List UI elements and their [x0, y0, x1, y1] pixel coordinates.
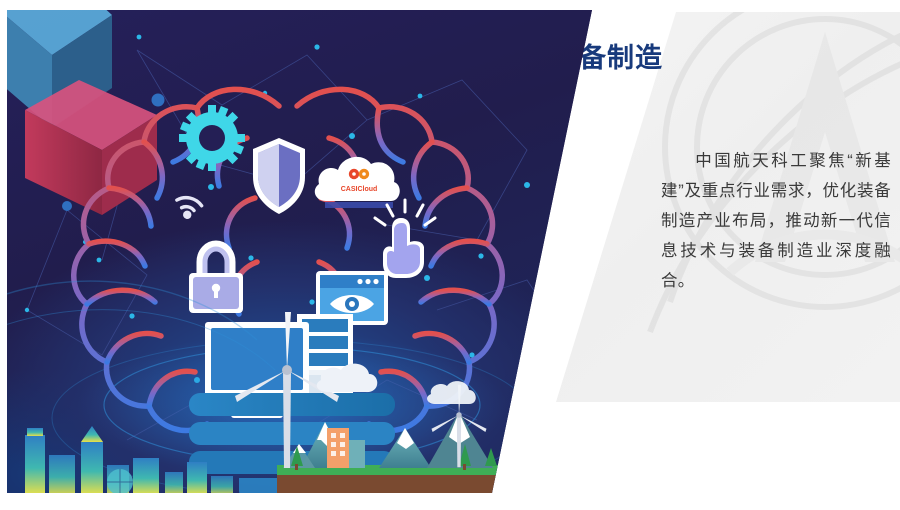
- body-paragraph-text: 中国航天科工聚焦“新基建”及重点行业需求，优化装备制造产业布局，推动新一代信息技…: [661, 152, 891, 290]
- body-paragraph: 中国航天科工聚焦“新基建”及重点行业需求，优化装备制造产业布局，推动新一代信息技…: [661, 146, 891, 296]
- gear-icon: [179, 105, 245, 171]
- illustration-panel: CASICloud: [7, 10, 592, 493]
- cloud-logo-text: CASICloud: [341, 186, 378, 193]
- cube-red-icon: [25, 80, 157, 215]
- illustration-artwork: CASICloud: [7, 10, 592, 493]
- slide-canvas: 装备制造 中国航天科工聚焦“新基建”及重点行业需求，优化装备制造产业布局，推动新…: [0, 0, 900, 510]
- wifi-icon: [174, 191, 204, 221]
- cloud-logo-icon: CASICloud: [315, 157, 400, 208]
- ground-strip: [277, 465, 577, 493]
